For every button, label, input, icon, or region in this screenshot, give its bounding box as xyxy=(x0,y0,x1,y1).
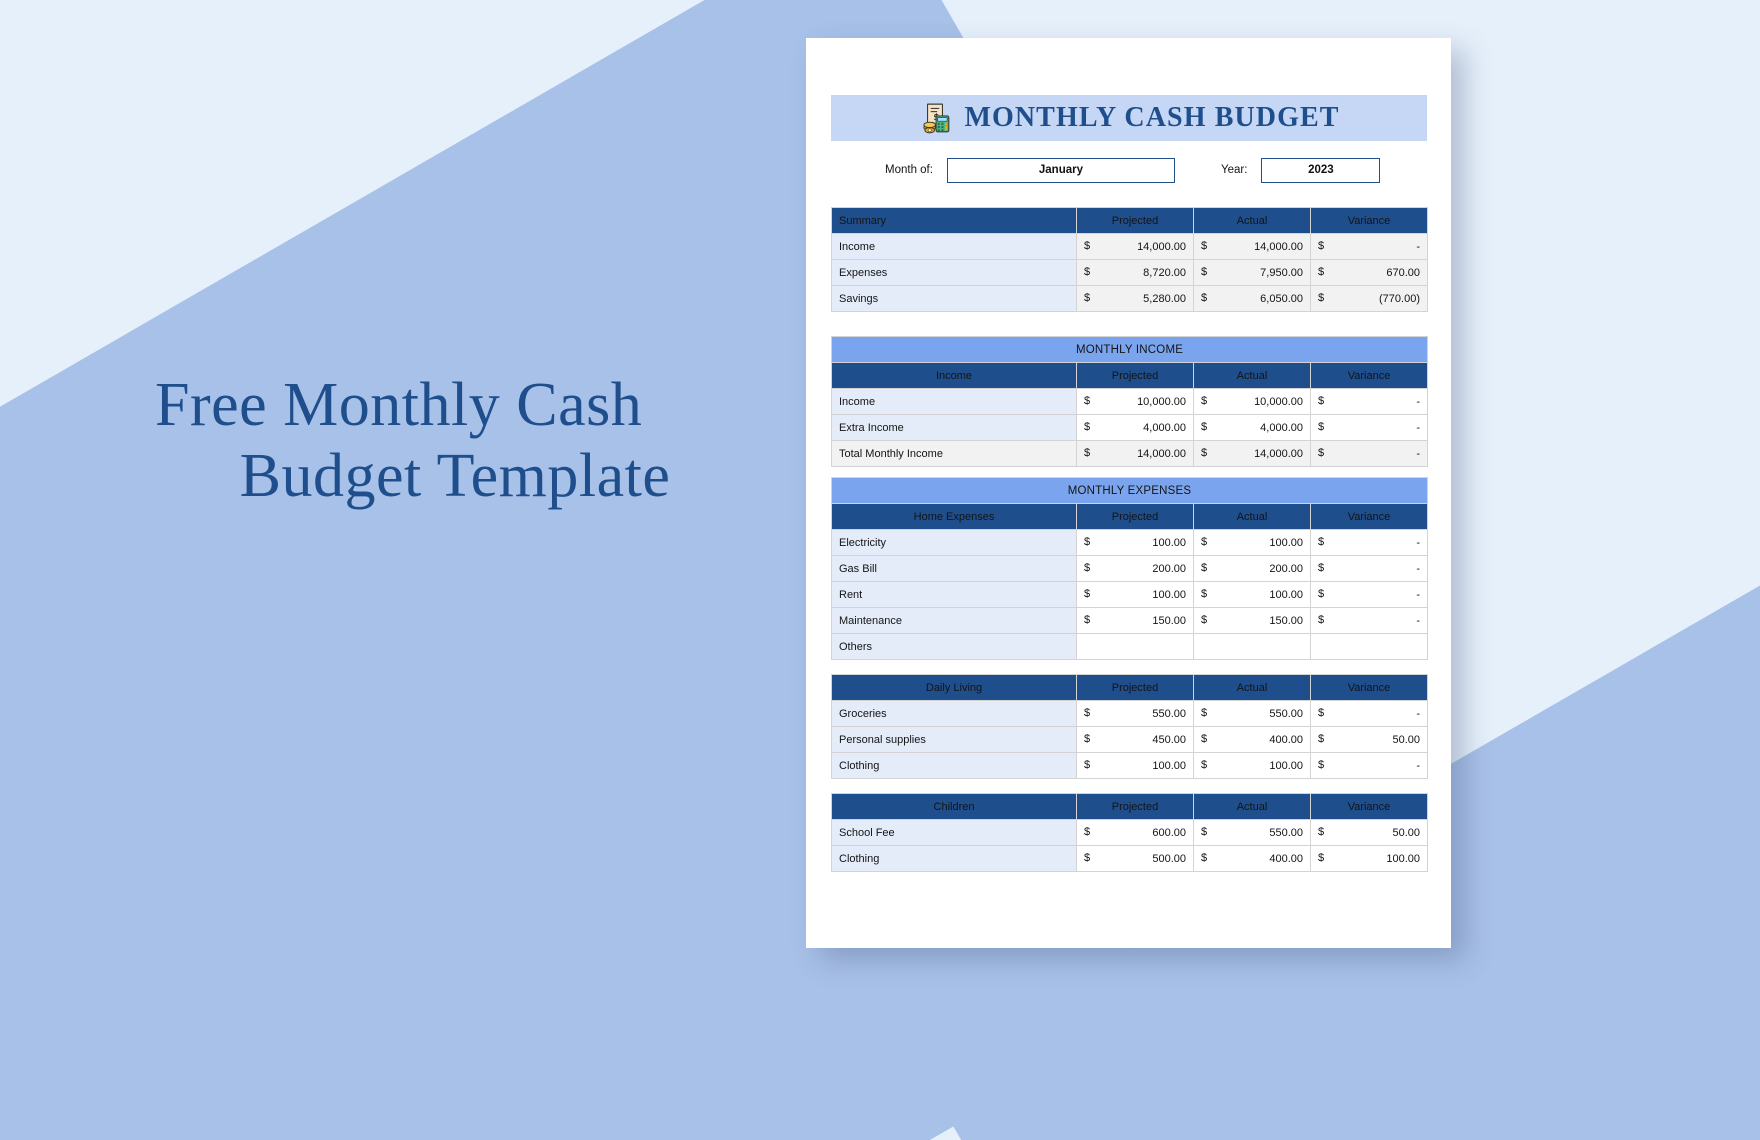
table-row: Others xyxy=(832,634,1428,660)
document-title-banner: $ MONTHLY CASH BUDGET xyxy=(831,95,1427,141)
row-variance: $- xyxy=(1311,556,1428,582)
summary-header-projected: Projected xyxy=(1077,208,1194,234)
table-row: Groceries $550.00 $550.00 $- xyxy=(832,701,1428,727)
summary-header-row: Summary Projected Actual Variance xyxy=(832,208,1428,234)
value: 400.00 xyxy=(1269,734,1303,746)
monthly-expenses-banner: MONTHLY EXPENSES xyxy=(832,478,1428,504)
income-header-actual: Actual xyxy=(1194,363,1311,389)
value: 5,280.00 xyxy=(1143,293,1186,305)
value: 550.00 xyxy=(1269,708,1303,720)
table-row: Clothing $100.00 $100.00 $- xyxy=(832,753,1428,779)
row-label: Clothing xyxy=(832,753,1077,779)
page-title: MONTHLY CASH BUDGET xyxy=(964,102,1339,134)
currency-symbol: $ xyxy=(1201,415,1207,439)
value: - xyxy=(1416,448,1420,460)
row-projected[interactable]: $5,280.00 xyxy=(1077,286,1194,312)
currency-symbol: $ xyxy=(1318,441,1324,465)
currency-symbol: $ xyxy=(1201,727,1207,751)
currency-symbol: $ xyxy=(1318,556,1324,580)
row-actual[interactable]: $100.00 xyxy=(1194,753,1311,779)
currency-symbol: $ xyxy=(1084,608,1090,632)
table-row: Electricity $100.00 $100.00 $- xyxy=(832,530,1428,556)
currency-symbol: $ xyxy=(1084,286,1090,310)
currency-symbol: $ xyxy=(1084,846,1090,870)
currency-symbol: $ xyxy=(1318,260,1324,284)
value: - xyxy=(1416,563,1420,575)
row-projected[interactable]: $450.00 xyxy=(1077,727,1194,753)
value: 10,000.00 xyxy=(1137,396,1186,408)
children-expenses-table: Children Projected Actual Variance Schoo… xyxy=(831,793,1428,872)
table-row: Income $14,000.00 $14,000.00 $- xyxy=(832,234,1428,260)
summary-header-variance: Variance xyxy=(1311,208,1428,234)
value: 200.00 xyxy=(1152,563,1186,575)
currency-symbol: $ xyxy=(1084,530,1090,554)
row-actual[interactable]: $400.00 xyxy=(1194,846,1311,872)
currency-symbol: $ xyxy=(1084,415,1090,439)
document-content: $ MONTHLY CASH BUDGET xyxy=(831,95,1427,872)
row-actual[interactable]: $100.00 xyxy=(1194,582,1311,608)
currency-symbol: $ xyxy=(1084,820,1090,844)
row-variance: $- xyxy=(1311,530,1428,556)
daily-living-header-row: Daily Living Projected Actual Variance xyxy=(832,675,1428,701)
currency-symbol: $ xyxy=(1084,556,1090,580)
value: 50.00 xyxy=(1392,734,1420,746)
row-actual[interactable]: $550.00 xyxy=(1194,820,1311,846)
row-label: Clothing xyxy=(832,846,1077,872)
value: 450.00 xyxy=(1152,734,1186,746)
row-projected[interactable]: $500.00 xyxy=(1077,846,1194,872)
row-actual[interactable]: $7,950.00 xyxy=(1194,260,1311,286)
value: - xyxy=(1416,760,1420,772)
summary-table: Summary Projected Actual Variance Income… xyxy=(831,207,1428,312)
income-header-label: Income xyxy=(832,363,1077,389)
row-projected[interactable]: $8,720.00 xyxy=(1077,260,1194,286)
value: 500.00 xyxy=(1152,853,1186,865)
currency-symbol: $ xyxy=(1084,234,1090,258)
promo-line-1: Free Monthly Cash xyxy=(155,370,755,441)
daily-header-label: Daily Living xyxy=(832,675,1077,701)
row-label: Maintenance xyxy=(832,608,1077,634)
value: - xyxy=(1416,241,1420,253)
currency-symbol: $ xyxy=(1201,753,1207,777)
value: 100.00 xyxy=(1269,589,1303,601)
currency-symbol: $ xyxy=(1318,820,1324,844)
table-row: Expenses $8,720.00 $7,950.00 $670.00 xyxy=(832,260,1428,286)
currency-symbol: $ xyxy=(1318,582,1324,606)
row-projected[interactable]: $100.00 xyxy=(1077,582,1194,608)
row-label: Electricity xyxy=(832,530,1077,556)
monthly-expenses-banner-row: MONTHLY EXPENSES xyxy=(832,478,1428,504)
currency-symbol: $ xyxy=(1318,389,1324,413)
value: 100.00 xyxy=(1152,537,1186,549)
currency-symbol: $ xyxy=(1084,441,1090,465)
children-header-label: Children xyxy=(832,794,1077,820)
currency-symbol: $ xyxy=(1201,441,1207,465)
row-actual[interactable]: $10,000.00 xyxy=(1194,389,1311,415)
currency-symbol: $ xyxy=(1318,753,1324,777)
currency-symbol: $ xyxy=(1201,234,1207,258)
row-label: Savings xyxy=(832,286,1077,312)
currency-symbol: $ xyxy=(1084,389,1090,413)
home-header-projected: Projected xyxy=(1077,504,1194,530)
row-actual[interactable]: $550.00 xyxy=(1194,701,1311,727)
row-variance: $- xyxy=(1311,753,1428,779)
home-header-variance: Variance xyxy=(1311,504,1428,530)
value: 200.00 xyxy=(1269,563,1303,575)
home-expenses-header-row: Home Expenses Projected Actual Variance xyxy=(832,504,1428,530)
value: 4,000.00 xyxy=(1143,422,1186,434)
row-variance: $- xyxy=(1311,415,1428,441)
daily-living-table: Daily Living Projected Actual Variance G… xyxy=(831,674,1428,779)
currency-symbol: $ xyxy=(1201,389,1207,413)
row-actual[interactable]: $6,050.00 xyxy=(1194,286,1311,312)
year-label: Year: xyxy=(1221,164,1247,176)
value: 10,000.00 xyxy=(1254,396,1303,408)
currency-symbol: $ xyxy=(1318,415,1324,439)
children-header-actual: Actual xyxy=(1194,794,1311,820)
row-label: Personal supplies xyxy=(832,727,1077,753)
row-label: Total Monthly Income xyxy=(832,441,1077,467)
row-actual: $14,000.00 xyxy=(1194,441,1311,467)
summary-header-actual: Actual xyxy=(1194,208,1311,234)
row-variance: $- xyxy=(1311,234,1428,260)
children-header-variance: Variance xyxy=(1311,794,1428,820)
value: 100.00 xyxy=(1386,853,1420,865)
home-header-actual: Actual xyxy=(1194,504,1311,530)
value: 150.00 xyxy=(1152,615,1186,627)
value: - xyxy=(1416,589,1420,601)
value: (770.00) xyxy=(1379,293,1420,305)
table-row: Savings $5,280.00 $6,050.00 $(770.00) xyxy=(832,286,1428,312)
table-row: School Fee $600.00 $550.00 $50.00 xyxy=(832,820,1428,846)
period-selector-row: Month of: January Year: 2023 xyxy=(831,157,1427,183)
row-projected[interactable]: $14,000.00 xyxy=(1077,234,1194,260)
row-projected[interactable]: $600.00 xyxy=(1077,820,1194,846)
currency-symbol: $ xyxy=(1318,530,1324,554)
value: 8,720.00 xyxy=(1143,267,1186,279)
currency-symbol: $ xyxy=(1201,260,1207,284)
currency-symbol: $ xyxy=(1201,846,1207,870)
year-input[interactable]: 2023 xyxy=(1261,158,1380,183)
row-label: Extra Income xyxy=(832,415,1077,441)
currency-symbol: $ xyxy=(1318,846,1324,870)
value: 600.00 xyxy=(1152,827,1186,839)
monthly-income-header-row: Income Projected Actual Variance xyxy=(832,363,1428,389)
value: 550.00 xyxy=(1152,708,1186,720)
row-label: Income xyxy=(832,234,1077,260)
row-variance: $- xyxy=(1311,608,1428,634)
row-projected[interactable]: $100.00 xyxy=(1077,530,1194,556)
row-variance: $50.00 xyxy=(1311,727,1428,753)
row-actual[interactable] xyxy=(1194,634,1311,660)
value: 14,000.00 xyxy=(1137,241,1186,253)
row-actual[interactable]: $200.00 xyxy=(1194,556,1311,582)
row-actual[interactable]: $400.00 xyxy=(1194,727,1311,753)
value: - xyxy=(1416,615,1420,627)
row-variance: $- xyxy=(1311,701,1428,727)
value: 670.00 xyxy=(1386,267,1420,279)
row-label: Income xyxy=(832,389,1077,415)
row-actual[interactable]: $100.00 xyxy=(1194,530,1311,556)
row-variance: $670.00 xyxy=(1311,260,1428,286)
currency-symbol: $ xyxy=(1318,701,1324,725)
value: 100.00 xyxy=(1152,760,1186,772)
value: - xyxy=(1416,708,1420,720)
value: 14,000.00 xyxy=(1254,241,1303,253)
table-row: Maintenance $150.00 $150.00 $- xyxy=(832,608,1428,634)
row-variance: $- xyxy=(1311,389,1428,415)
table-row: Income $10,000.00 $10,000.00 $- xyxy=(832,389,1428,415)
home-expenses-table: MONTHLY EXPENSES Home Expenses Projected… xyxy=(831,477,1428,660)
home-header-label: Home Expenses xyxy=(832,504,1077,530)
row-actual[interactable]: $14,000.00 xyxy=(1194,234,1311,260)
row-projected[interactable]: $100.00 xyxy=(1077,753,1194,779)
currency-symbol: $ xyxy=(1318,727,1324,751)
row-variance: $- xyxy=(1311,441,1428,467)
value: 100.00 xyxy=(1152,589,1186,601)
row-projected[interactable]: $10,000.00 xyxy=(1077,389,1194,415)
currency-symbol: $ xyxy=(1084,701,1090,725)
currency-symbol: $ xyxy=(1201,556,1207,580)
income-header-variance: Variance xyxy=(1311,363,1428,389)
promo-line-2: Budget Template xyxy=(155,441,755,512)
row-variance: $100.00 xyxy=(1311,846,1428,872)
row-label: Gas Bill xyxy=(832,556,1077,582)
table-row: Clothing $500.00 $400.00 $100.00 xyxy=(832,846,1428,872)
value: 400.00 xyxy=(1269,853,1303,865)
currency-symbol: $ xyxy=(1318,608,1324,632)
row-variance: $50.00 xyxy=(1311,820,1428,846)
summary-header-label: Summary xyxy=(832,208,1077,234)
row-projected: $14,000.00 xyxy=(1077,441,1194,467)
monthly-income-table: MONTHLY INCOME Income Projected Actual V… xyxy=(831,336,1428,467)
currency-symbol: $ xyxy=(1084,582,1090,606)
value: - xyxy=(1416,422,1420,434)
row-label: School Fee xyxy=(832,820,1077,846)
table-row: Extra Income $4,000.00 $4,000.00 $- xyxy=(832,415,1428,441)
monthly-income-banner-row: MONTHLY INCOME xyxy=(832,337,1428,363)
receipt-calculator-coins-icon: $ xyxy=(918,101,952,135)
currency-symbol: $ xyxy=(1201,820,1207,844)
currency-symbol: $ xyxy=(1318,234,1324,258)
row-variance xyxy=(1311,634,1428,660)
value: - xyxy=(1416,537,1420,549)
currency-symbol: $ xyxy=(1201,582,1207,606)
currency-symbol: $ xyxy=(1201,286,1207,310)
month-label: Month of: xyxy=(885,164,933,176)
daily-header-variance: Variance xyxy=(1311,675,1428,701)
value: 7,950.00 xyxy=(1260,267,1303,279)
currency-symbol: $ xyxy=(1084,260,1090,284)
income-header-projected: Projected xyxy=(1077,363,1194,389)
month-input[interactable]: January xyxy=(947,158,1175,183)
row-projected[interactable]: $150.00 xyxy=(1077,608,1194,634)
value: 50.00 xyxy=(1392,827,1420,839)
currency-symbol: $ xyxy=(1084,727,1090,751)
total-monthly-income-row: Total Monthly Income $14,000.00 $14,000.… xyxy=(832,441,1428,467)
currency-symbol: $ xyxy=(1084,753,1090,777)
budget-document-sheet: $ MONTHLY CASH BUDGET xyxy=(806,38,1451,948)
row-label: Rent xyxy=(832,582,1077,608)
currency-symbol: $ xyxy=(1201,608,1207,632)
currency-symbol: $ xyxy=(1201,701,1207,725)
value: 550.00 xyxy=(1269,827,1303,839)
row-projected[interactable]: $200.00 xyxy=(1077,556,1194,582)
value: 14,000.00 xyxy=(1254,448,1303,460)
row-actual[interactable]: $150.00 xyxy=(1194,608,1311,634)
value: 100.00 xyxy=(1269,537,1303,549)
daily-header-projected: Projected xyxy=(1077,675,1194,701)
row-label: Expenses xyxy=(832,260,1077,286)
children-header-projected: Projected xyxy=(1077,794,1194,820)
value: 6,050.00 xyxy=(1260,293,1303,305)
row-variance: $- xyxy=(1311,582,1428,608)
table-row: Rent $100.00 $100.00 $- xyxy=(832,582,1428,608)
daily-header-actual: Actual xyxy=(1194,675,1311,701)
row-label: Others xyxy=(832,634,1077,660)
row-label: Groceries xyxy=(832,701,1077,727)
row-projected[interactable] xyxy=(1077,634,1194,660)
row-projected[interactable]: $550.00 xyxy=(1077,701,1194,727)
value: 150.00 xyxy=(1269,615,1303,627)
row-actual[interactable]: $4,000.00 xyxy=(1194,415,1311,441)
children-header-row: Children Projected Actual Variance xyxy=(832,794,1428,820)
value: 14,000.00 xyxy=(1137,448,1186,460)
currency-symbol: $ xyxy=(1201,530,1207,554)
value: - xyxy=(1416,396,1420,408)
row-variance: $(770.00) xyxy=(1311,286,1428,312)
row-projected[interactable]: $4,000.00 xyxy=(1077,415,1194,441)
value: 100.00 xyxy=(1269,760,1303,772)
table-row: Gas Bill $200.00 $200.00 $- xyxy=(832,556,1428,582)
value: 4,000.00 xyxy=(1260,422,1303,434)
currency-symbol: $ xyxy=(1318,286,1324,310)
monthly-income-banner: MONTHLY INCOME xyxy=(832,337,1428,363)
promo-headline: Free Monthly Cash Budget Template xyxy=(155,370,755,513)
table-row: Personal supplies $450.00 $400.00 $50.00 xyxy=(832,727,1428,753)
